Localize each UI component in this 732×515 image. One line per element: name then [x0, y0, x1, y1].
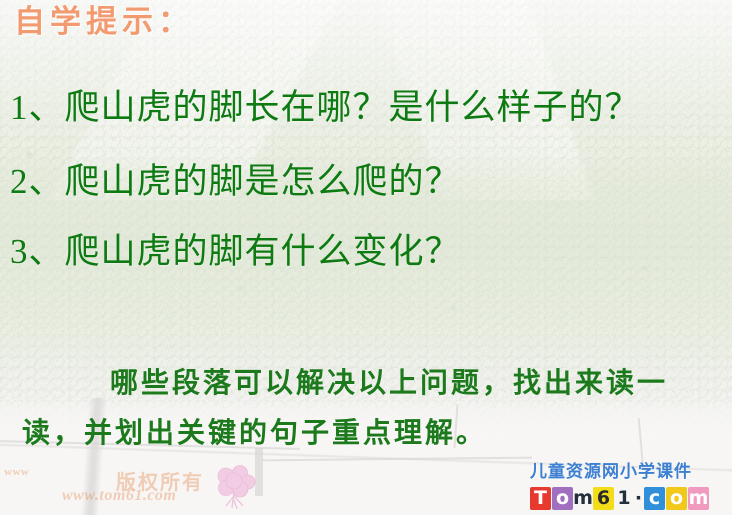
watermark-www: www — [4, 466, 29, 479]
site-logo-tile-6: c — [644, 487, 665, 510]
site-logo-tile-0: T — [530, 487, 551, 510]
slide-canvas: www 版权所有 www.tom61.com 自学提示： 1、爬山虎的脚长在哪？… — [0, 0, 732, 515]
question-list: 1、爬山虎的脚长在哪？是什么样子的？ 2、爬山虎的脚是怎么爬的？ 3、爬山虎的脚… — [10, 86, 722, 274]
site-logo-tiles: Tom61·com — [530, 484, 728, 510]
site-logo-tile-4: 1 — [615, 487, 633, 510]
site-logo-tile-8: m — [688, 487, 709, 510]
page-title: 自学提示： — [14, 4, 194, 40]
site-logo: 儿童资源网小学课件 Tom61·com — [530, 462, 728, 510]
site-logo-tile-3: 6 — [593, 487, 614, 510]
watermark-copyright: 版权所有 — [116, 466, 204, 495]
question-item-2: 2、爬山虎的脚是怎么爬的？ — [10, 160, 722, 204]
site-logo-chinese: 儿童资源网小学课件 — [530, 462, 728, 482]
site-logo-tile-1: o — [552, 487, 573, 510]
watermark-url: www.tom61.com — [62, 487, 176, 505]
site-logo-tile-2: m — [574, 487, 592, 510]
site-logo-tile-5: · — [634, 487, 643, 510]
site-logo-tile-7: o — [666, 487, 687, 510]
question-item-3: 3、爬山虎的脚有什么变化？ — [10, 230, 722, 274]
closing-paragraph: 哪些段落可以解决以上问题，找出来读一读，并划出关键的句子重点理解。 — [22, 358, 722, 458]
flower-watermark-icon — [210, 462, 260, 512]
question-item-1: 1、爬山虎的脚长在哪？是什么样子的？ — [10, 86, 722, 130]
